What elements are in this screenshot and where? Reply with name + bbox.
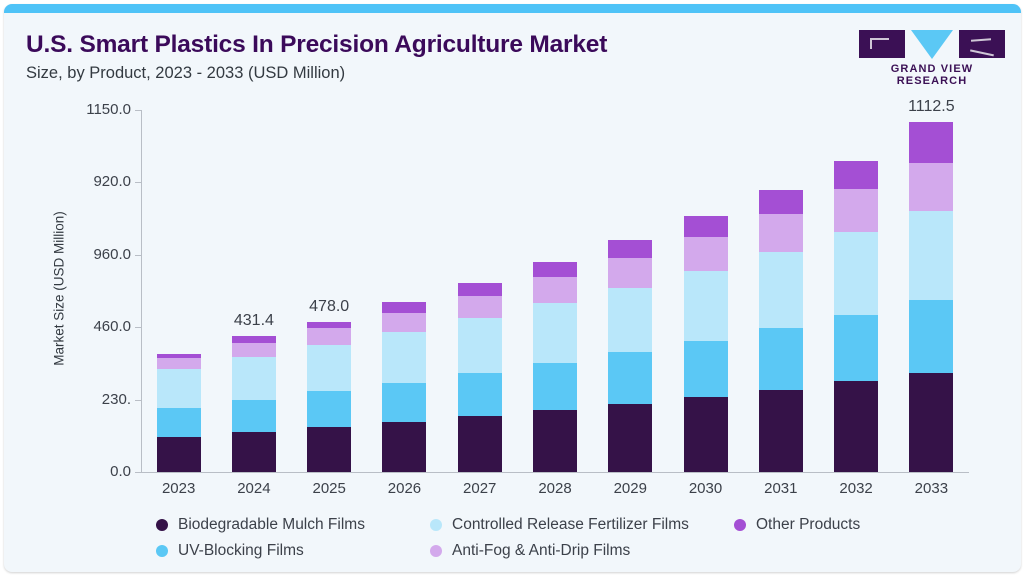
y-axis-tick-label: 230. — [57, 391, 131, 408]
bar-segment[interactable] — [759, 390, 803, 472]
y-axis-tick-mark — [135, 400, 142, 401]
bar-2031[interactable] — [759, 110, 803, 472]
bar-2028[interactable] — [533, 110, 577, 472]
y-axis-tick-mark — [135, 327, 142, 328]
bar-2024[interactable] — [232, 110, 276, 472]
bar-segment[interactable] — [608, 352, 652, 403]
bar-segment[interactable] — [157, 369, 201, 408]
bar-segment[interactable] — [909, 211, 953, 300]
bar-2025[interactable] — [307, 110, 351, 472]
bar-segment[interactable] — [834, 161, 878, 189]
bar-segment[interactable] — [232, 400, 276, 432]
bar-value-label: 478.0 — [274, 298, 384, 316]
legend-item[interactable]: Other Products — [734, 516, 860, 534]
bar-segment[interactable] — [834, 381, 878, 472]
legend-color-dot-icon — [430, 545, 442, 557]
bar-segment[interactable] — [909, 373, 953, 472]
legend-label: UV-Blocking Films — [178, 542, 304, 560]
bar-segment[interactable] — [834, 232, 878, 314]
bar-segment[interactable] — [684, 216, 728, 237]
bar-segment[interactable] — [157, 354, 201, 358]
legend-item[interactable]: Anti-Fog & Anti-Drip Films — [430, 542, 630, 560]
bar-segment[interactable] — [608, 240, 652, 258]
bar-2027[interactable] — [458, 110, 502, 472]
y-axis-tick-mark — [135, 182, 142, 183]
bar-segment[interactable] — [382, 422, 426, 472]
bar-segment[interactable] — [307, 345, 351, 392]
bar-segment[interactable] — [458, 416, 502, 472]
bar-segment[interactable] — [533, 262, 577, 277]
bar-segment[interactable] — [382, 332, 426, 383]
legend-label: Controlled Release Fertilizer Films — [452, 516, 689, 534]
legend-item[interactable]: Controlled Release Fertilizer Films — [430, 516, 689, 534]
legend-color-dot-icon — [430, 519, 442, 531]
bar-segment[interactable] — [533, 303, 577, 363]
x-axis-line — [141, 472, 969, 473]
bar-2033[interactable] — [909, 110, 953, 472]
bar-segment[interactable] — [307, 322, 351, 329]
stacked-bar-chart: Market Size (USD Million) 0.0230.460.096… — [4, 4, 1021, 572]
bar-2026[interactable] — [382, 110, 426, 472]
y-axis-tick-label: 920.0 — [57, 173, 131, 190]
bar-segment[interactable] — [684, 271, 728, 341]
bar-segment[interactable] — [909, 300, 953, 373]
legend-label: Biodegradable Mulch Films — [178, 516, 365, 534]
y-axis-tick-label: 460.0 — [57, 318, 131, 335]
y-axis-tick-label: 0.0 — [57, 463, 131, 480]
bar-segment[interactable] — [909, 163, 953, 211]
y-axis-tick-label: 960.0 — [57, 246, 131, 263]
bar-segment[interactable] — [307, 427, 351, 472]
y-axis-line — [141, 110, 142, 472]
bar-segment[interactable] — [533, 410, 577, 472]
bar-segment[interactable] — [382, 313, 426, 332]
bar-segment[interactable] — [608, 258, 652, 288]
bar-segment[interactable] — [759, 214, 803, 252]
legend-item[interactable]: UV-Blocking Films — [156, 542, 304, 560]
bar-segment[interactable] — [232, 343, 276, 357]
bar-segment[interactable] — [458, 283, 502, 296]
bar-segment[interactable] — [759, 252, 803, 328]
bar-segment[interactable] — [157, 358, 201, 369]
bar-segment[interactable] — [157, 408, 201, 437]
bar-value-label: 1112.5 — [876, 98, 986, 116]
y-axis-tick-label: 1150.0 — [57, 101, 131, 118]
bar-segment[interactable] — [684, 237, 728, 271]
x-axis-tick-label: 2033 — [886, 480, 976, 497]
bar-segment[interactable] — [533, 277, 577, 303]
legend-color-dot-icon — [156, 519, 168, 531]
bar-segment[interactable] — [533, 363, 577, 410]
bar-segment[interactable] — [382, 302, 426, 312]
legend-color-dot-icon — [156, 545, 168, 557]
bar-segment[interactable] — [157, 437, 201, 472]
legend-item[interactable]: Biodegradable Mulch Films — [156, 516, 365, 534]
bar-segment[interactable] — [458, 318, 502, 373]
bar-segment[interactable] — [759, 190, 803, 214]
bar-segment[interactable] — [909, 122, 953, 163]
legend-label: Other Products — [756, 516, 860, 534]
bar-2030[interactable] — [684, 110, 728, 472]
bar-segment[interactable] — [307, 391, 351, 427]
bar-2023[interactable] — [157, 110, 201, 472]
bar-segment[interactable] — [684, 397, 728, 472]
bar-segment[interactable] — [458, 373, 502, 416]
bar-segment[interactable] — [307, 328, 351, 344]
bar-segment[interactable] — [608, 288, 652, 353]
legend-color-dot-icon — [734, 519, 746, 531]
bar-segment[interactable] — [232, 432, 276, 472]
bar-segment[interactable] — [232, 336, 276, 343]
legend-label: Anti-Fog & Anti-Drip Films — [452, 542, 630, 560]
y-axis-tick-mark — [135, 255, 142, 256]
bar-segment[interactable] — [759, 328, 803, 389]
chart-card: U.S. Smart Plastics In Precision Agricul… — [4, 4, 1021, 572]
y-axis-tick-mark — [135, 472, 142, 473]
bar-2029[interactable] — [608, 110, 652, 472]
y-axis-tick-mark — [135, 110, 142, 111]
bar-segment[interactable] — [458, 296, 502, 318]
bar-segment[interactable] — [834, 315, 878, 382]
bar-segment[interactable] — [684, 341, 728, 397]
bar-segment[interactable] — [834, 189, 878, 232]
bar-segment[interactable] — [382, 383, 426, 422]
bar-2032[interactable] — [834, 110, 878, 472]
y-axis-title: Market Size (USD Million) — [52, 159, 67, 419]
bar-segment[interactable] — [608, 404, 652, 472]
bar-segment[interactable] — [232, 357, 276, 400]
